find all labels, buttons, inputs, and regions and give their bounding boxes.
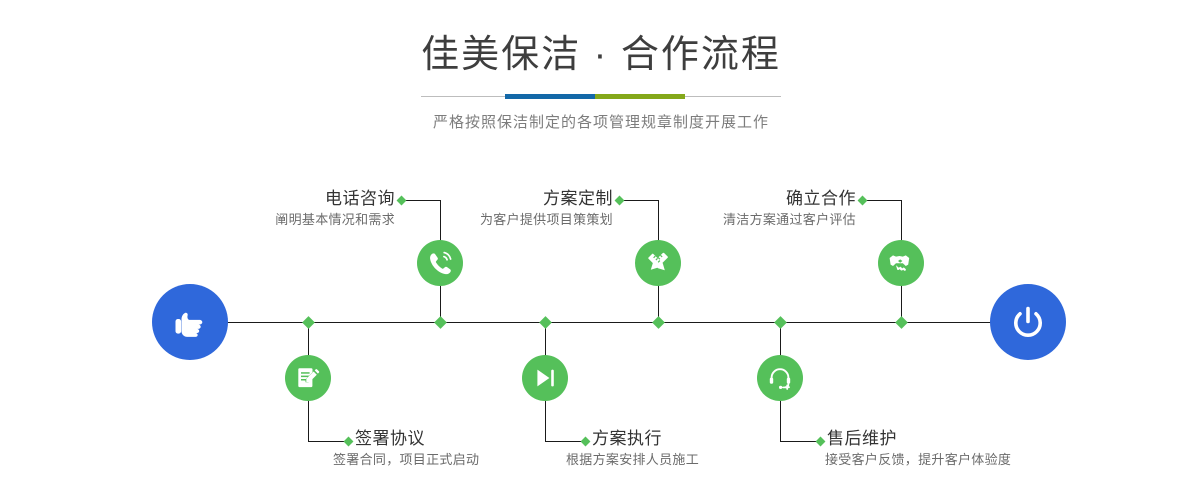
label-anchor-4 bbox=[581, 437, 591, 447]
step-icon-6[interactable] bbox=[757, 355, 803, 401]
label-anchor-2 bbox=[344, 437, 354, 447]
connector-horizontal-6 bbox=[780, 441, 820, 442]
axis-node-3 bbox=[652, 316, 665, 329]
step-title-6: 售后维护 bbox=[827, 428, 1011, 450]
label-anchor-5 bbox=[858, 196, 868, 206]
connector-horizontal-3 bbox=[620, 200, 659, 201]
step-title-5: 确立合作 bbox=[545, 188, 856, 210]
headset-support-icon bbox=[766, 364, 794, 392]
axis-node-1 bbox=[434, 316, 447, 329]
step-label-4: 方案执行 根据方案安排人员施工 bbox=[592, 428, 699, 470]
timeline-end-endpoint[interactable] bbox=[990, 284, 1066, 360]
step-label-2: 签署协议 签署合同，项目正式启动 bbox=[355, 428, 479, 470]
axis-node-5 bbox=[895, 316, 908, 329]
connector-horizontal-4 bbox=[545, 441, 585, 442]
step-label-6: 售后维护 接受客户反馈，提升客户体验度 bbox=[827, 428, 1011, 470]
step-icon-3[interactable] bbox=[635, 240, 681, 286]
step-icon-5[interactable] bbox=[878, 240, 924, 286]
power-icon bbox=[1006, 300, 1050, 344]
step-icon-2[interactable] bbox=[285, 355, 331, 401]
axis-node-2 bbox=[302, 316, 315, 329]
step-title-4: 方案执行 bbox=[592, 428, 699, 450]
step-desc-6: 接受客户反馈，提升客户体验度 bbox=[825, 450, 1011, 470]
handshake-icon bbox=[887, 249, 915, 277]
connector-horizontal-2 bbox=[308, 441, 348, 442]
step-icon-4[interactable] bbox=[522, 355, 568, 401]
pointing-hand-icon bbox=[168, 300, 212, 344]
step-icon-1[interactable] bbox=[417, 240, 463, 286]
axis-node-4 bbox=[539, 316, 552, 329]
step-desc-2: 签署合同，项目正式启动 bbox=[333, 450, 479, 470]
connector-horizontal-1 bbox=[402, 200, 441, 201]
step-title-2: 签署协议 bbox=[355, 428, 479, 450]
timeline-start-endpoint[interactable] bbox=[152, 284, 228, 360]
phone-call-icon bbox=[426, 249, 454, 277]
document-sign-icon bbox=[294, 364, 322, 392]
axis-node-6 bbox=[774, 316, 787, 329]
label-anchor-6 bbox=[816, 437, 826, 447]
pencil-ruler-icon bbox=[644, 249, 672, 277]
step-label-5: 确立合作 清洁方案通过客户评估 bbox=[545, 188, 856, 230]
connector-horizontal-5 bbox=[863, 200, 902, 201]
process-timeline: 电话咨询 阐明基本情况和需求 签署协议 签署合同，项目正式启动 bbox=[0, 0, 1202, 502]
step-desc-5: 清洁方案通过客户评估 bbox=[545, 210, 856, 230]
step-desc-4: 根据方案安排人员施工 bbox=[566, 450, 699, 470]
play-execute-icon bbox=[531, 364, 559, 392]
